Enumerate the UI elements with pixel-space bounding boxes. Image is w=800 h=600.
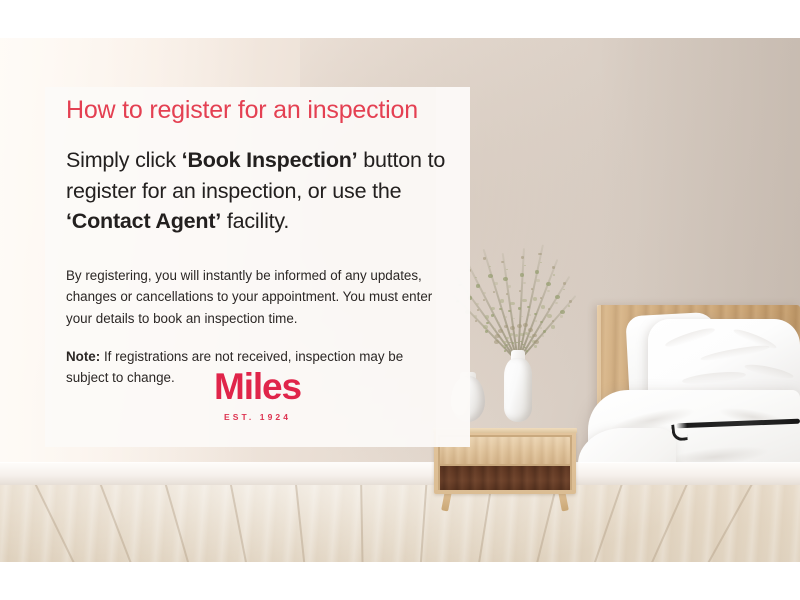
branch-leaf — [498, 329, 503, 333]
branch-leaf — [510, 302, 515, 306]
branch-leaf — [528, 328, 533, 332]
branch-leaf — [523, 323, 528, 327]
branch-leaf — [524, 265, 526, 267]
branch-leaf — [555, 295, 560, 299]
branch-leaf — [503, 277, 508, 281]
branch-leaf — [560, 310, 565, 314]
branch-leaf — [483, 325, 488, 329]
branch-leaf — [560, 315, 563, 318]
branch-leaf — [534, 340, 539, 344]
branch-leaf — [494, 282, 497, 285]
lede-paragraph: Simply click ‘Book Inspection’ button to… — [66, 145, 458, 237]
branch-leaf — [504, 350, 506, 352]
branch-leaf — [506, 344, 508, 346]
branch-leaf — [555, 302, 558, 305]
pillow-fold — [664, 325, 716, 350]
branch-leaf — [535, 270, 540, 274]
branch-leaf — [485, 315, 490, 319]
branch-leaf — [531, 288, 533, 290]
branch-leaf — [546, 282, 551, 286]
lede-text-3: facility. — [221, 209, 289, 233]
slide-canvas: How to register for an inspection Simply… — [0, 0, 800, 600]
pillow-fold — [682, 370, 747, 387]
branch-leaf — [526, 350, 528, 352]
branch-leaf — [505, 316, 507, 318]
nightstand-shelf — [440, 466, 570, 490]
branch-leaf — [534, 313, 537, 316]
contact-agent-emphasis: ‘Contact Agent’ — [66, 209, 221, 233]
branch-leaf — [548, 308, 550, 310]
branch-leaf — [541, 305, 546, 309]
brand-logo: Miles EST. 1924 — [45, 368, 470, 422]
branch-leaf — [523, 282, 526, 285]
branch-leaf — [489, 266, 491, 268]
branch-leaf — [476, 284, 481, 288]
branch-leaf — [542, 335, 544, 337]
branch-leaf — [508, 285, 511, 288]
branch-leaf — [529, 314, 531, 316]
branch-leaf — [517, 324, 522, 328]
shelf-grain — [440, 466, 570, 490]
branch-leaf — [535, 320, 537, 322]
branch-leaf — [513, 318, 515, 320]
page-title: How to register for an inspection — [66, 95, 461, 125]
branch-leaf — [569, 300, 572, 303]
branch-leaf — [483, 292, 486, 295]
branch-leaf — [506, 269, 508, 271]
book-inspection-emphasis: ‘Book Inspection’ — [182, 148, 358, 172]
panel-content: How to register for an inspection Simply… — [66, 95, 461, 405]
branch-leaf — [521, 256, 524, 259]
branch-leaf — [498, 322, 500, 324]
branch-leaf — [476, 303, 479, 306]
branch-leaf — [552, 320, 554, 322]
branch-leaf — [506, 293, 508, 295]
branch-leaf — [568, 305, 570, 307]
branch-leaf — [540, 327, 542, 329]
branch-leaf — [553, 274, 555, 276]
branch-leaf — [540, 262, 542, 264]
branch-leaf — [500, 299, 505, 303]
logo-tagline: EST. 1924 — [45, 412, 470, 422]
branch-leaf — [491, 314, 494, 317]
branch-leaf — [532, 334, 537, 338]
skirting-board — [0, 463, 800, 485]
branch-leaf — [552, 266, 555, 269]
logo-wordmark: Miles — [45, 368, 470, 405]
branch-leaf — [494, 340, 499, 344]
note-label: Note: — [66, 349, 100, 364]
branch-leaf — [519, 290, 521, 292]
branch-leaf — [534, 345, 537, 348]
branch-leaf — [488, 274, 493, 278]
branch-leaf — [521, 316, 523, 318]
branch-leaf — [520, 273, 525, 277]
pillow-fold — [700, 343, 770, 363]
lede-text-1: Simply click — [66, 148, 182, 172]
branch-leaf — [543, 330, 546, 333]
branch-leaf — [475, 320, 477, 322]
branch-leaf — [547, 290, 550, 293]
branch-leaf — [477, 309, 479, 311]
wood-floor — [0, 485, 800, 562]
branch-leaf — [547, 314, 552, 318]
branch-leaf — [485, 330, 488, 333]
branch-leaf — [540, 297, 542, 299]
branch-leaf — [533, 297, 538, 301]
branch-leaf — [483, 299, 485, 301]
registration-info-paragraph: By registering, you will instantly be in… — [66, 265, 448, 330]
tall-vase — [504, 358, 532, 422]
branch-leaf — [491, 307, 496, 311]
pillow-fold — [744, 362, 795, 381]
branch-leaf — [510, 326, 515, 330]
branch-leaf — [551, 325, 556, 329]
branch-leaf — [563, 289, 565, 291]
branch-leaf — [494, 328, 496, 330]
branch-leaf — [495, 334, 500, 338]
branch-leaf — [522, 299, 527, 303]
branch-leaf — [474, 315, 477, 318]
branch-leaf — [536, 279, 539, 282]
